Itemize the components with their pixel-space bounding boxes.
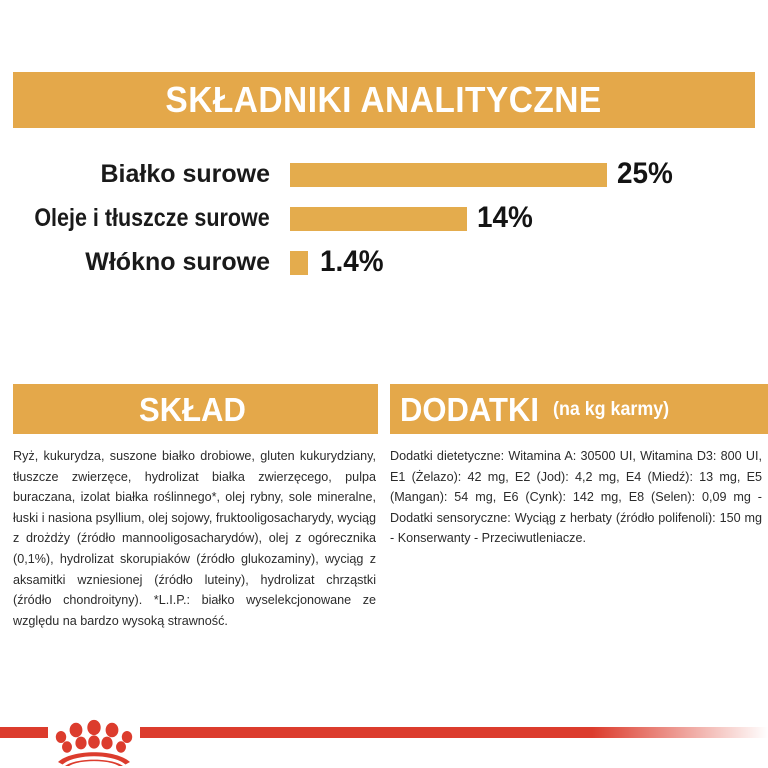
chart-row: Włókno surowe 1.4% bbox=[0, 240, 768, 284]
analytical-constituents-chart: Białko surowe 25% Oleje i tłuszcze surow… bbox=[0, 152, 768, 284]
bar-category-label: Białko surowe bbox=[101, 152, 271, 196]
analytical-constituents-banner: SKŁADNIKI ANALITYCZNE bbox=[13, 72, 755, 128]
bar-value-label: 1.4% bbox=[320, 240, 384, 284]
additives-header: DODATKI (na kg karmy) bbox=[390, 384, 768, 434]
bar-track bbox=[290, 251, 308, 275]
footer-rule-right bbox=[140, 727, 768, 738]
additives-header-subtitle: (na kg karmy) bbox=[553, 400, 669, 419]
bar-category-label: Włókno surowe bbox=[85, 240, 270, 284]
composition-panel: SKŁAD Ryż, kukurydza, suszone białko dro… bbox=[13, 384, 378, 631]
bar-value-label: 25% bbox=[617, 152, 673, 196]
composition-text: Ryż, kukurydza, suszone białko drobiowe,… bbox=[13, 434, 378, 631]
bar-track bbox=[290, 207, 467, 231]
royal-canin-crown-icon bbox=[52, 716, 136, 766]
page-title: SKŁADNIKI ANALITYCZNE bbox=[166, 82, 602, 118]
footer-rule-left bbox=[0, 727, 48, 738]
additives-text: Dodatki dietetyczne: Witamina A: 30500 U… bbox=[390, 434, 768, 549]
bar-fill bbox=[290, 251, 308, 275]
chart-row: Białko surowe 25% bbox=[0, 152, 768, 196]
additives-header-title: DODATKI bbox=[400, 393, 539, 426]
bar-value-label: 14% bbox=[477, 196, 533, 240]
additives-panel: DODATKI (na kg karmy) Dodatki dietetyczn… bbox=[390, 384, 768, 549]
composition-header-title: SKŁAD bbox=[139, 393, 246, 426]
bar-fill bbox=[290, 207, 467, 231]
bar-track bbox=[290, 163, 607, 187]
bar-category-label: Oleje i tłuszcze surowe bbox=[35, 196, 270, 240]
footer bbox=[0, 716, 768, 768]
composition-header: SKŁAD bbox=[13, 384, 378, 434]
bar-fill bbox=[290, 163, 607, 187]
chart-row: Oleje i tłuszcze surowe 14% bbox=[0, 196, 768, 240]
info-panels: SKŁAD Ryż, kukurydza, suszone białko dro… bbox=[0, 384, 768, 674]
